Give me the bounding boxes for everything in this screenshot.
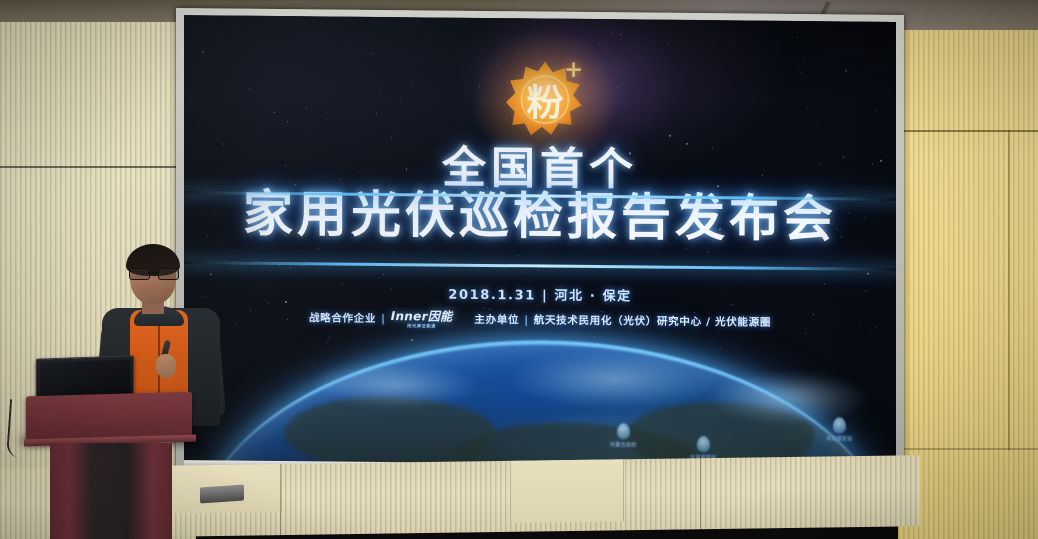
glasses-lens <box>158 268 179 280</box>
organizer-credit: 主办单位 | 航天技术民用化（光伏）研究中心 / 光伏能源圈 <box>474 312 771 330</box>
partner-label: 战略合作企业 <box>309 311 376 327</box>
star <box>391 137 392 138</box>
star <box>599 44 600 45</box>
star <box>306 107 307 108</box>
star <box>845 70 847 72</box>
stage-panel <box>510 459 624 523</box>
laptop-screen <box>40 359 130 398</box>
star <box>249 89 250 90</box>
star <box>302 265 303 266</box>
star <box>686 143 688 145</box>
star <box>801 72 802 73</box>
stage-panel-seam <box>700 458 701 529</box>
globe-pin-label: 内蒙古巡检 <box>610 441 637 448</box>
presenter-hand <box>156 354 176 378</box>
star <box>484 308 485 309</box>
star <box>887 48 888 49</box>
slide-headline: 全国首个 家用光伏巡检报告发布会 <box>184 143 896 247</box>
star <box>185 56 186 57</box>
badge-plus-icon: + <box>564 59 583 82</box>
star <box>826 48 827 49</box>
star <box>371 53 372 54</box>
map-pin-icon <box>697 436 710 452</box>
projection-screen: 内蒙古巡检北京巡检站河北保定站山东巡检站江苏巡检站浙江站 粉 <box>184 15 896 474</box>
star <box>669 135 671 137</box>
separator: | <box>381 313 386 325</box>
map-pin-icon <box>833 417 846 433</box>
star <box>287 121 288 122</box>
star <box>797 37 798 38</box>
star <box>799 67 800 68</box>
star <box>461 56 462 57</box>
star <box>617 87 618 88</box>
globe-pin: 内蒙古巡检 <box>610 423 637 448</box>
floor-equipment <box>200 484 244 503</box>
star <box>412 83 413 84</box>
star <box>268 303 269 304</box>
star <box>611 32 613 34</box>
organizer-value: 航天技术民用化（光伏）研究中心 / 光伏能源圈 <box>534 313 771 330</box>
star <box>318 248 319 249</box>
globe-pin: 河北保定站 <box>826 417 853 442</box>
star <box>290 267 291 268</box>
conference-photo: 内蒙古巡检北京巡检站河北保定站山东巡检站江苏巡检站浙江站 粉 <box>0 0 1038 539</box>
star <box>446 112 447 113</box>
star <box>602 39 603 40</box>
star <box>400 101 401 102</box>
star <box>891 65 892 66</box>
star <box>707 252 708 253</box>
stage-panel-seam <box>280 464 281 535</box>
star <box>274 112 275 113</box>
star <box>325 118 326 119</box>
star <box>686 248 687 249</box>
star <box>346 133 347 134</box>
star <box>538 270 539 271</box>
star <box>184 111 185 112</box>
star <box>202 51 204 53</box>
star <box>301 94 302 95</box>
star <box>357 134 358 135</box>
map-pin-icon <box>617 423 630 439</box>
partner-logo-main: Inner因能 <box>391 310 453 323</box>
star <box>807 108 808 109</box>
star <box>277 68 278 69</box>
star <box>537 305 538 306</box>
podium-body <box>50 443 172 539</box>
star <box>285 302 287 304</box>
wall-panel-edge <box>1008 130 1010 450</box>
star <box>489 309 490 310</box>
star <box>518 256 519 257</box>
event-badge: 粉 + <box>502 56 588 143</box>
star <box>198 72 199 73</box>
separator: | <box>524 314 529 326</box>
star <box>824 284 825 285</box>
star <box>875 110 876 111</box>
star <box>376 112 377 113</box>
globe-pin-label: 河北保定站 <box>826 435 853 442</box>
star <box>383 274 384 275</box>
projection-screen-frame: 内蒙古巡检北京巡检站河北保定站山东巡检站江苏巡检站浙江站 粉 <box>176 8 904 485</box>
partner-logo: Inner因能 阳光清洁能源 <box>391 310 453 328</box>
partner-logo-tagline: 阳光清洁能源 <box>407 324 436 328</box>
partner-credit: 战略合作企业 | Inner因能 阳光清洁能源 <box>309 309 452 328</box>
star <box>814 65 815 66</box>
wall-seam <box>898 130 1038 132</box>
presenter-glasses <box>129 268 177 278</box>
star <box>194 74 195 75</box>
star <box>766 99 767 100</box>
organizer-label: 主办单位 <box>474 312 519 327</box>
star <box>867 273 869 275</box>
star <box>620 34 622 36</box>
star <box>220 38 221 39</box>
star <box>306 134 307 135</box>
star <box>668 44 669 45</box>
wall-seam <box>0 166 196 168</box>
glasses-lens <box>129 268 150 280</box>
glasses-bridge <box>148 272 158 274</box>
star <box>380 95 381 96</box>
star <box>817 122 818 123</box>
wall-seam-lower <box>898 448 1038 450</box>
star <box>803 61 804 62</box>
